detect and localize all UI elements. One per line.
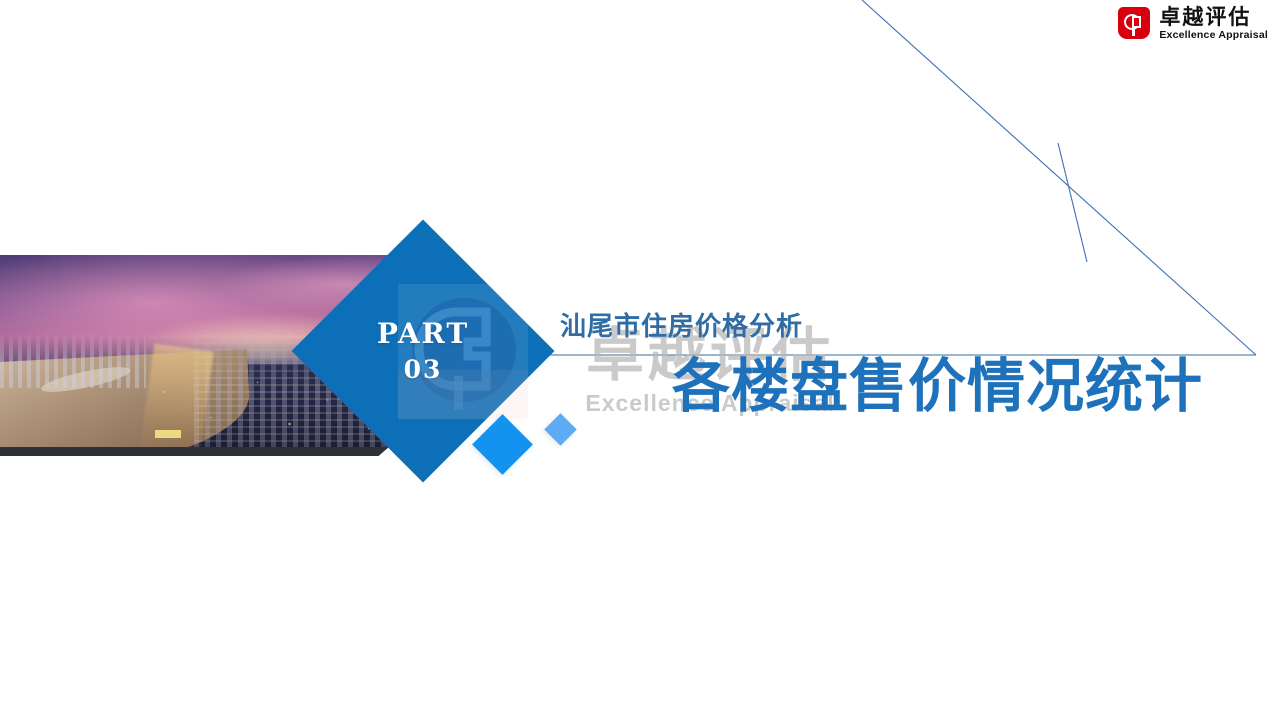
diagonal-line-long — [862, 0, 1256, 355]
brand-name-cn: 卓越评估 — [1159, 6, 1268, 27]
part-word: PART — [377, 319, 469, 348]
accent-diamond-small — [544, 413, 577, 446]
brand-logo: 卓越评估 Excellence Appraisal — [1118, 6, 1268, 41]
part-number: 03 — [404, 357, 443, 383]
slide-subtitle: 汕尾市住房价格分析 — [560, 306, 803, 343]
diagonal-line-spacer — [1058, 144, 1086, 263]
logo-mark-inner — [1134, 18, 1139, 26]
section-number-label: PART 03 — [330, 258, 516, 444]
photo-skyline-left — [0, 335, 146, 387]
brand-name-en: Excellence Appraisal — [1159, 30, 1268, 41]
brand-logo-text: 卓越评估 Excellence Appraisal — [1159, 6, 1268, 41]
photo-billboard — [155, 430, 181, 438]
logo-mark-stem — [1132, 28, 1135, 36]
diagonal-line-short — [1058, 143, 1087, 262]
slide-canvas: 卓越评估 Excellence Appraisal 卓越评估 Excellenc… — [0, 0, 1280, 720]
photo-bottom-band — [0, 447, 430, 456]
diagonal-line-spacer-2 — [1059, 145, 1086, 262]
diagonal-line-spacer-3 — [1059, 144, 1088, 264]
excellence-appraisal-logo-mark — [1118, 7, 1150, 39]
slide-title: 各楼盘售价情况统计 — [672, 357, 1203, 418]
